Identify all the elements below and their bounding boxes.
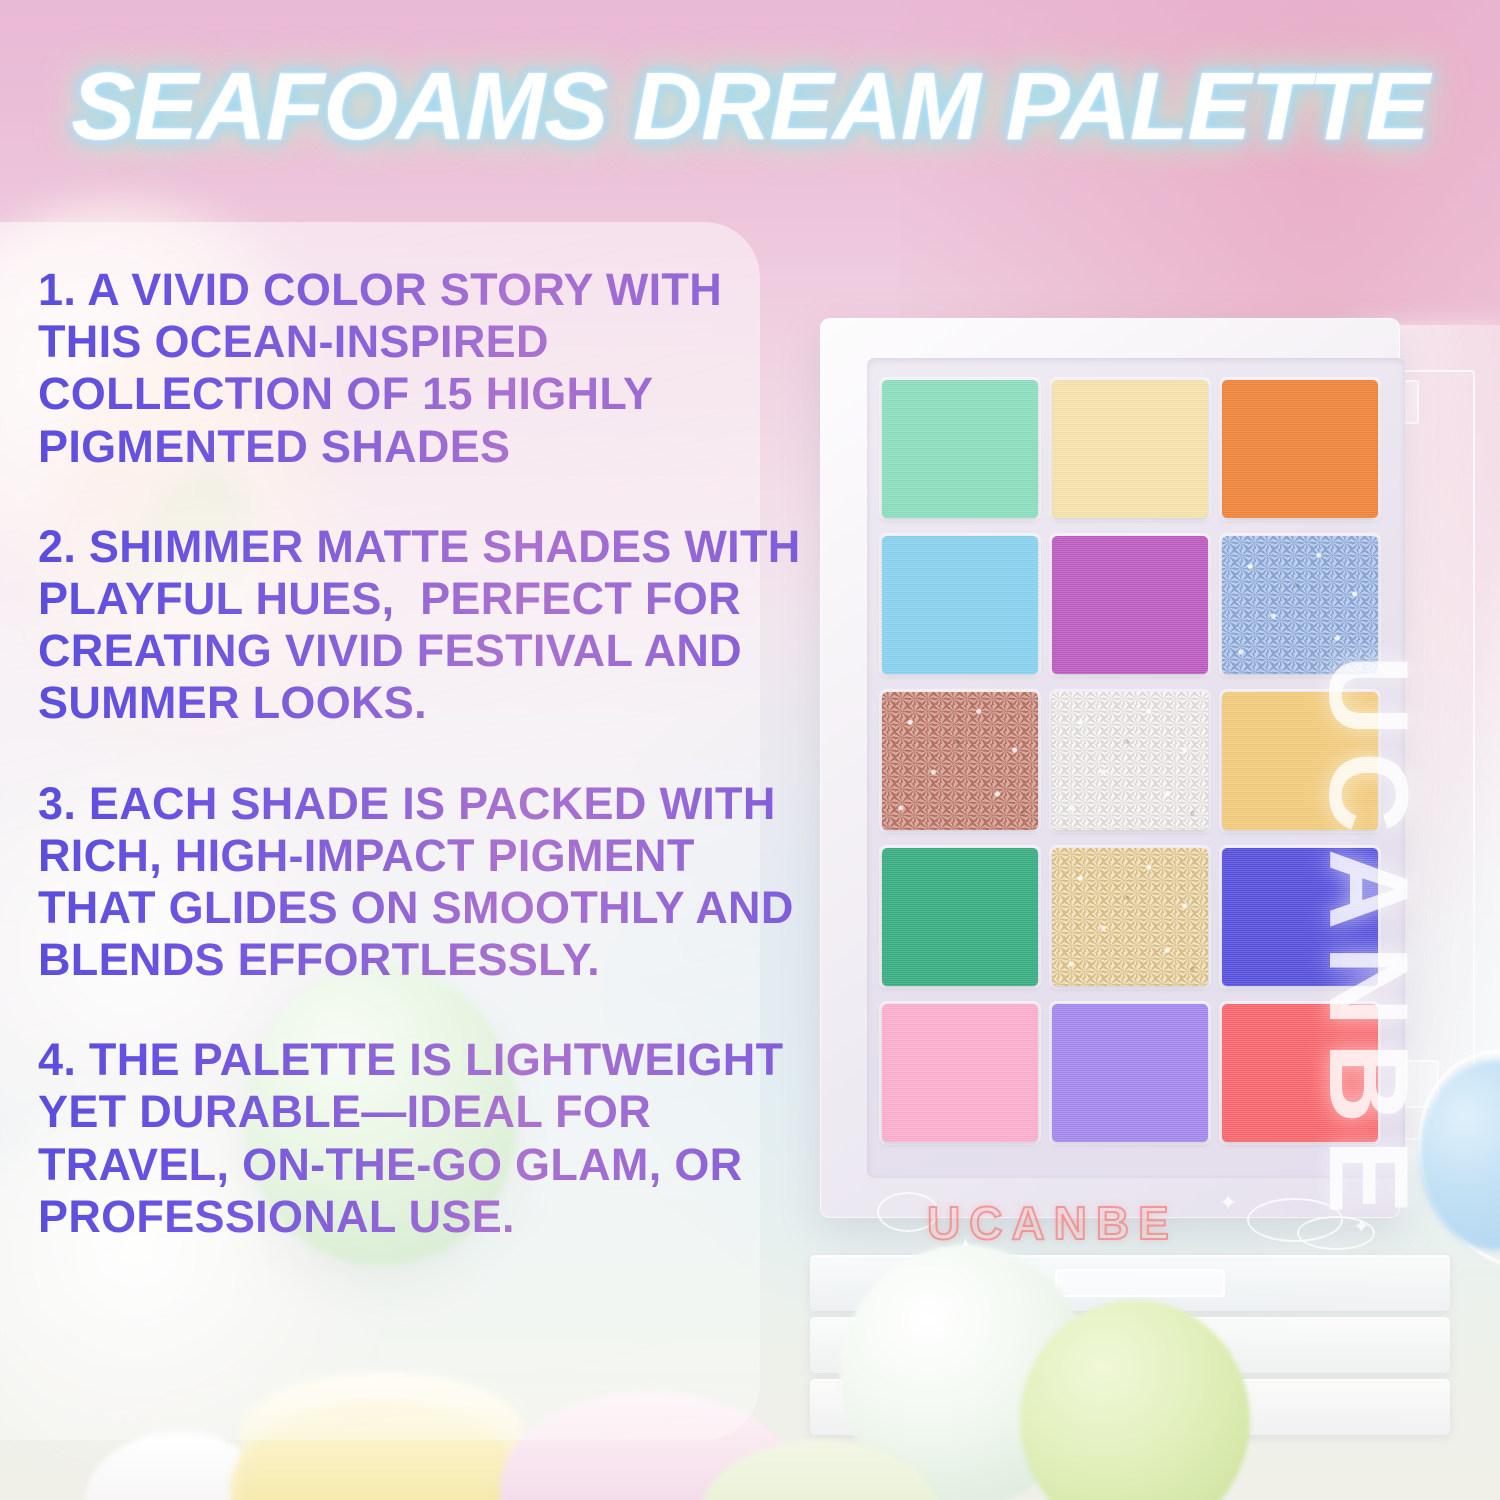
shade-pan-orchid-purple[interactable]: [1052, 536, 1208, 674]
shade-pan-mint-green[interactable]: [882, 380, 1038, 518]
brand-watermark: UCANBE: [1304, 655, 1433, 1230]
palette-lid-logo: UCANBE: [927, 1196, 1178, 1250]
eyeshadow-palette: ✦ ✦ ✦ UCANBE ✦ UCANBE: [795, 300, 1500, 1260]
feature-item-4: 4. THE PALETTE IS LIGHTWEIGHT YET DURABL…: [38, 1034, 808, 1243]
shade-pan-pale-cream-yellow[interactable]: [1052, 380, 1208, 518]
feature-item-1: 1. A VIVID COLOR STORY WITH THIS OCEAN-I…: [38, 264, 808, 473]
sparkle-icon: ✦: [1219, 1190, 1237, 1216]
shade-pan-white-shimmer[interactable]: [1052, 692, 1208, 830]
feature-item-2: 2. SHIMMER MATTE SHADES WITH PLAYFUL HUE…: [38, 521, 808, 730]
shade-pan-emerald-green[interactable]: [882, 848, 1038, 986]
feature-text-3: 3. EACH SHADE IS PACKED WITH RICH, HIGH-…: [38, 778, 808, 987]
feature-text-2: 2. SHIMMER MATTE SHADES WITH PLAYFUL HUE…: [38, 521, 808, 730]
page-title: SEAFOAMS DREAM PALETTE: [71, 52, 1429, 162]
feature-item-3: 3. EACH SHADE IS PACKED WITH RICH, HIGH-…: [38, 778, 808, 987]
feature-text-1: 1. A VIVID COLOR STORY WITH THIS OCEAN-I…: [38, 264, 808, 473]
feature-text-4: 4. THE PALETTE IS LIGHTWEIGHT YET DURABL…: [38, 1034, 808, 1243]
base-notch: [1055, 1269, 1225, 1297]
feature-list: 1. A VIVID COLOR STORY WITH THIS OCEAN-I…: [38, 264, 808, 1291]
shade-pan-rose-gold-glitter[interactable]: [882, 692, 1038, 830]
title-banner: SEAFOAMS DREAM PALETTE: [0, 0, 1500, 190]
shade-pan-lavender-purple[interactable]: [1052, 1004, 1208, 1142]
shade-pan-gold-shimmer[interactable]: [1052, 848, 1208, 986]
shade-pan-icy-blue-glitter[interactable]: [1222, 536, 1378, 674]
shade-pan-bubblegum-pink[interactable]: [882, 1004, 1038, 1142]
shade-pan-sky-blue[interactable]: [882, 536, 1038, 674]
shade-pan-tangerine-orange[interactable]: [1222, 380, 1378, 518]
